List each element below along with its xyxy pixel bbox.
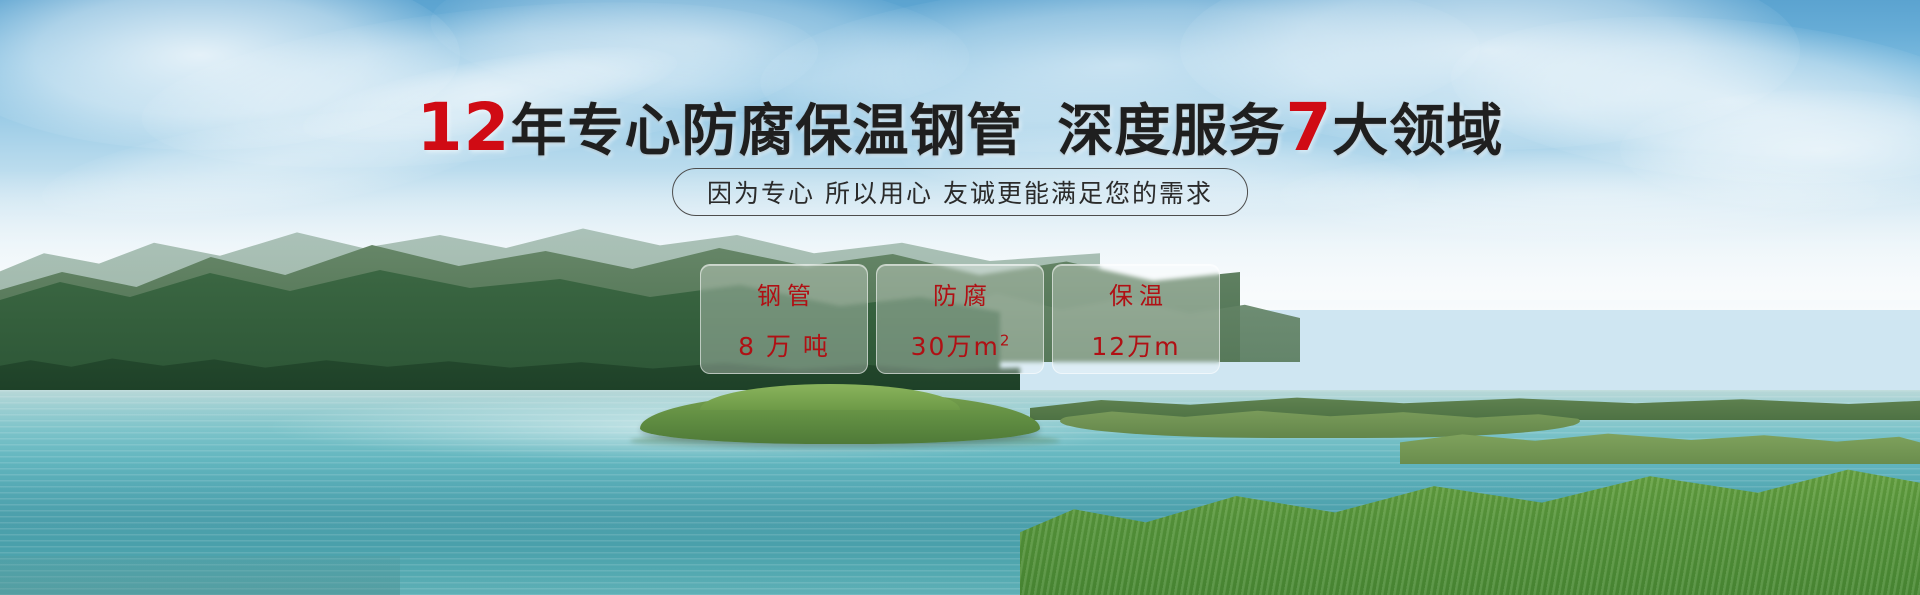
stat-card-value-superscript: 2 <box>1000 331 1010 349</box>
hero-banner: 12年专心防腐保温钢管深度服务7大领域 因为专心 所以用心 友诚更能满足您的需求… <box>0 0 1920 595</box>
stat-card-value: 30万m2 <box>911 327 1010 363</box>
headline-fields-number: 7 <box>1285 89 1332 166</box>
stat-card-steel-pipe[interactable]: 钢管 8 万 吨 <box>700 264 868 374</box>
stat-card-group: 钢管 8 万 吨 防腐 30万m2 保温 12万m <box>700 264 1220 374</box>
stat-card-value-text: 8 万 吨 <box>738 332 830 361</box>
banner-headline: 12年专心防腐保温钢管深度服务7大领域 <box>0 86 1920 167</box>
headline-part-three: 大领域 <box>1332 99 1503 164</box>
headline-part-two: 深度服务 <box>1057 99 1285 164</box>
stat-card-value: 12万m <box>1091 327 1180 363</box>
stat-card-title: 钢管 <box>751 276 817 311</box>
stat-card-anticorrosion[interactable]: 防腐 30万m2 <box>876 264 1044 374</box>
stat-card-value-text: 30万m <box>911 332 1000 361</box>
stat-card-value-text: 12万m <box>1091 332 1180 361</box>
stat-card-title: 保温 <box>1103 276 1169 311</box>
headline-years-number: 12 <box>417 89 511 166</box>
stat-card-insulation[interactable]: 保温 12万m <box>1052 264 1220 374</box>
headline-part-one: 年专心防腐保温钢管 <box>510 99 1023 164</box>
subtitle-pill: 因为专心 所以用心 友诚更能满足您的需求 <box>672 168 1248 216</box>
subtitle-text: 因为专心 所以用心 友诚更能满足您的需求 <box>707 174 1213 210</box>
stat-card-value: 8 万 吨 <box>738 327 830 363</box>
banner-content: 12年专心防腐保温钢管深度服务7大领域 因为专心 所以用心 友诚更能满足您的需求… <box>0 0 1920 595</box>
stat-card-title: 防腐 <box>927 276 993 311</box>
